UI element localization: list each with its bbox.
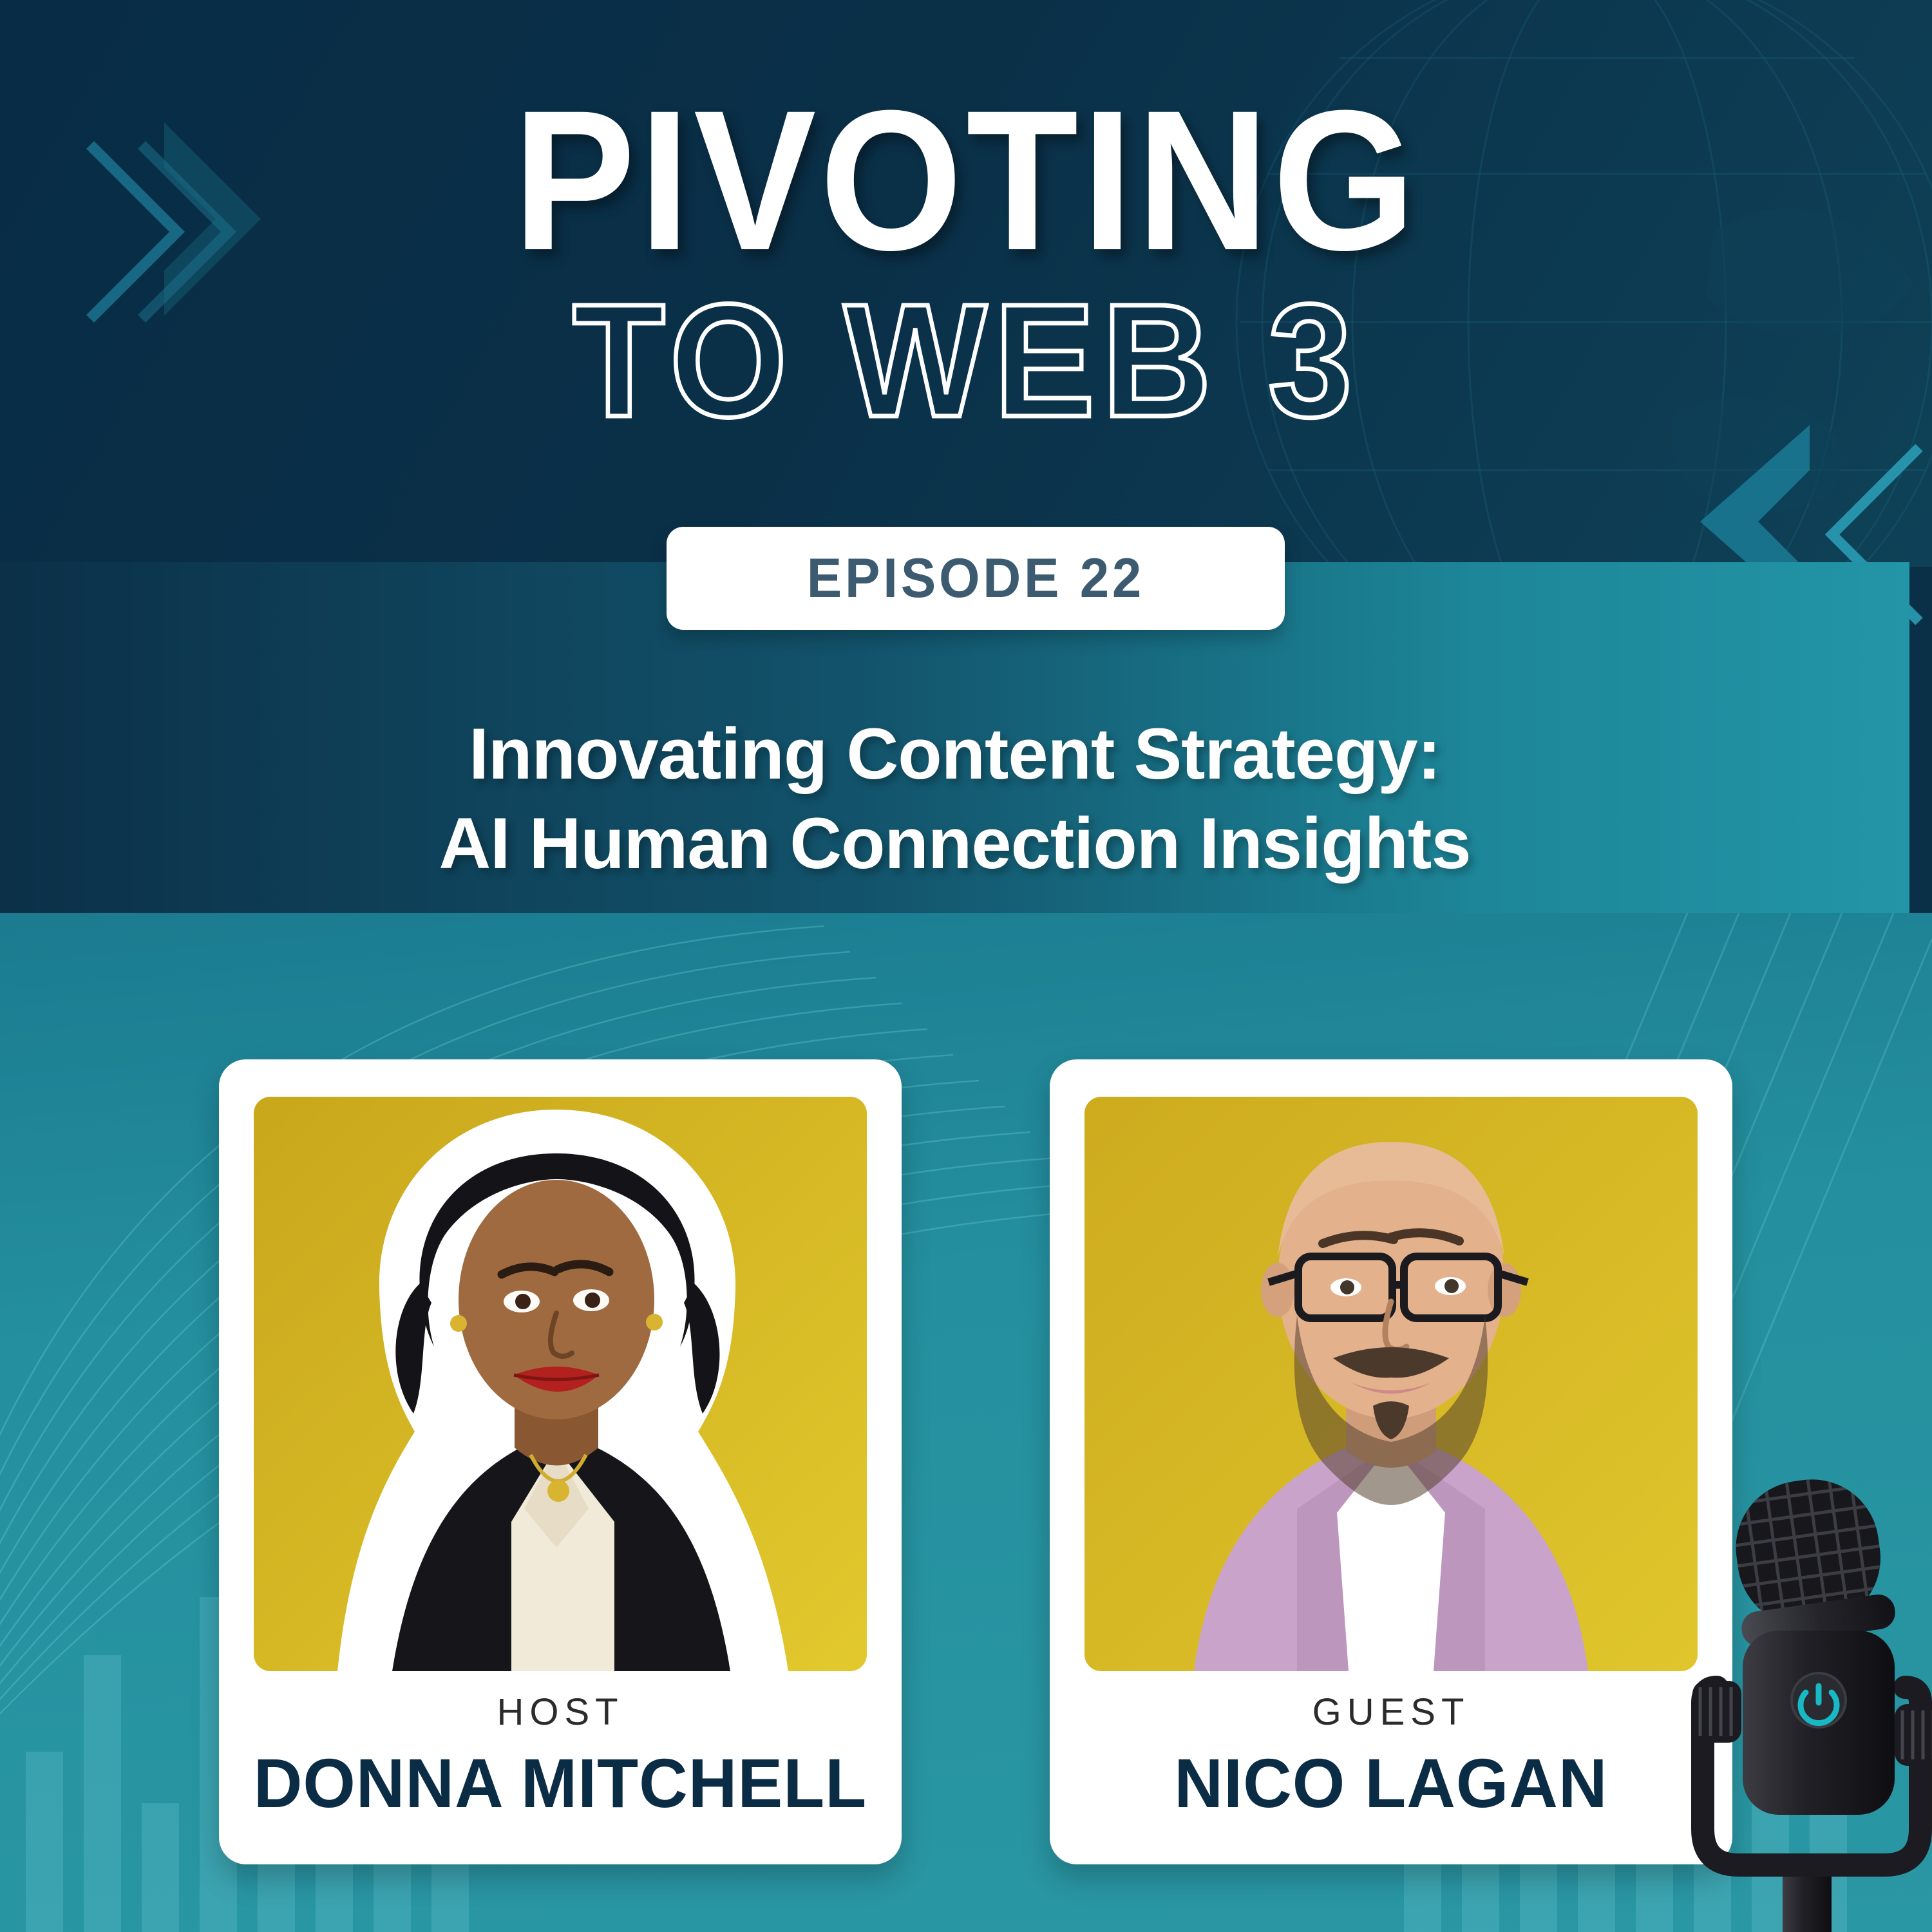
guest-name: NICO LAGAN	[1174, 1743, 1607, 1823]
host-photo	[254, 1097, 867, 1671]
episode-badge: EPISODE 22	[667, 527, 1285, 630]
show-title-line-2: TO WEB 3	[58, 284, 1874, 437]
host-name: DONNA MITCHELL	[254, 1743, 867, 1823]
episode-badge-label: EPISODE 22	[807, 547, 1144, 611]
episode-title-line-1: Innovating Content Strategy:	[469, 710, 1441, 799]
guest-role-label: GUEST	[1312, 1690, 1470, 1734]
guest-photo	[1084, 1097, 1698, 1671]
host-portrait	[254, 1097, 867, 1671]
microphone-icon	[1655, 1475, 1932, 1932]
podcast-cover-art: PIVOTING TO WEB 3 Innovating Content Str…	[0, 0, 1932, 1932]
show-title: PIVOTING TO WEB 3	[0, 90, 1932, 437]
host-role-label: HOST	[497, 1690, 623, 1734]
episode-title-line-2: AI Human Connection Insights	[439, 799, 1470, 889]
guest-portrait	[1084, 1097, 1698, 1671]
guest-card: GUEST NICO LAGAN	[1050, 1059, 1732, 1864]
host-card: HOST DONNA MITCHELL	[219, 1059, 902, 1864]
show-title-line-1: PIVOTING	[77, 90, 1855, 270]
